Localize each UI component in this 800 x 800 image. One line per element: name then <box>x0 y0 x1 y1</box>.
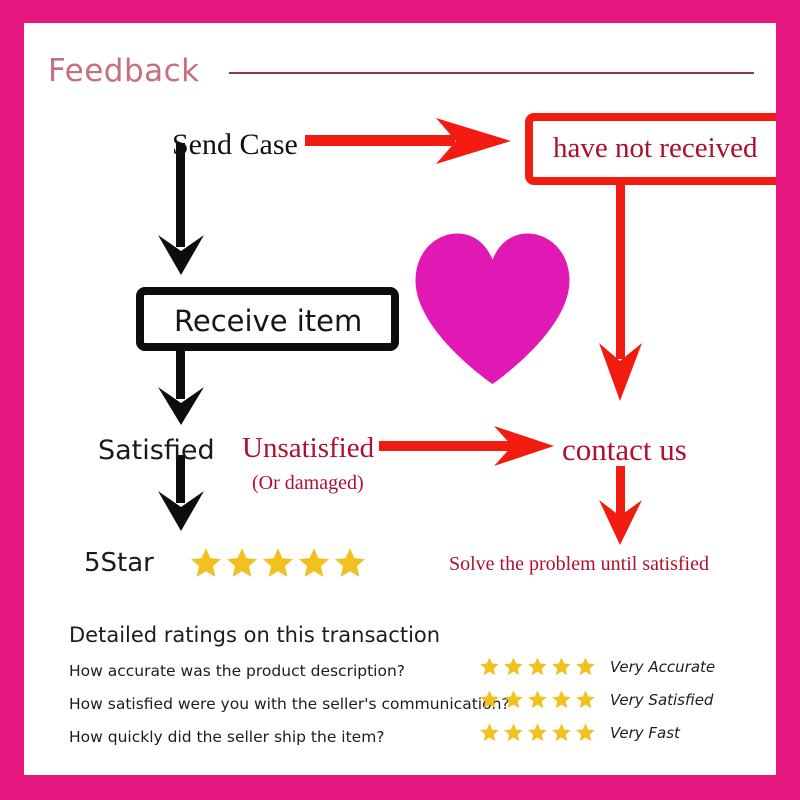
send-case-label: Send Case <box>172 128 298 162</box>
arrow-down-icon-receive-to-satisfied <box>158 351 204 425</box>
contact-us-label: contact us <box>562 432 687 468</box>
rating-question-0: How accurate was the product description… <box>69 662 405 680</box>
rating-stars-2 <box>479 722 596 743</box>
feedback-infographic: Feedback <box>0 0 800 800</box>
star-icon <box>527 722 548 743</box>
rating-question-2: How quickly did the seller ship the item… <box>69 728 385 746</box>
rating-label-1: Very Satisfied <box>610 691 713 709</box>
rating-row-1: Very Satisfied <box>479 689 713 710</box>
star-icon <box>261 546 295 580</box>
star-icon <box>575 722 596 743</box>
star-icon <box>503 689 524 710</box>
rating-label-0: Very Accurate <box>610 658 715 676</box>
five-star-rating <box>189 546 367 580</box>
star-icon <box>551 689 572 710</box>
rating-stars-1 <box>479 689 596 710</box>
star-icon <box>551 722 572 743</box>
star-icon <box>479 722 500 743</box>
rating-label-2: Very Fast <box>610 724 680 742</box>
have-not-received-label: have not received <box>553 132 758 165</box>
have-not-received-box: have not received <box>525 113 776 185</box>
star-icon <box>503 722 524 743</box>
unsatisfied-label: Unsatisfied <box>242 432 374 465</box>
star-icon <box>527 656 548 677</box>
rating-question-1: How satisfied were you with the seller's… <box>69 695 510 713</box>
arrow-down-icon-sendcase-to-receive <box>158 143 204 275</box>
star-icon <box>297 546 331 580</box>
arrow-right-icon-unsatisfied-to-contact <box>379 426 554 466</box>
five-star-label: 5Star <box>84 548 154 578</box>
page-title: Feedback <box>48 53 200 89</box>
rating-row-2: Very Fast <box>479 722 680 743</box>
title-divider <box>229 72 754 74</box>
star-icon <box>527 689 548 710</box>
infographic-sheet: Feedback <box>24 23 776 775</box>
star-icon <box>575 656 596 677</box>
star-icon <box>333 546 367 580</box>
arrow-down-icon-satisfied-to-fivestar <box>158 455 204 531</box>
solve-problem-label: Solve the problem until satisfied <box>449 553 709 576</box>
rating-row-0: Very Accurate <box>479 656 715 677</box>
rating-stars-0 <box>479 656 596 677</box>
or-damaged-label: (Or damaged) <box>252 472 364 495</box>
arrow-down-icon-contact-to-solve <box>599 466 642 545</box>
arrow-down-icon-notreceived-to-contact <box>599 169 642 401</box>
star-icon <box>479 689 500 710</box>
receive-item-box: Receive item <box>136 287 399 351</box>
star-icon <box>225 546 259 580</box>
heart-icon <box>405 223 580 403</box>
arrow-right-icon-send-to-notreceived <box>305 118 511 164</box>
star-icon <box>503 656 524 677</box>
star-icon <box>189 546 223 580</box>
detailed-ratings-title: Detailed ratings on this transaction <box>69 623 440 647</box>
star-icon <box>575 689 596 710</box>
star-icon <box>479 656 500 677</box>
satisfied-label: Satisfied <box>98 435 215 466</box>
star-icon <box>551 656 572 677</box>
receive-item-label: Receive item <box>174 304 362 338</box>
